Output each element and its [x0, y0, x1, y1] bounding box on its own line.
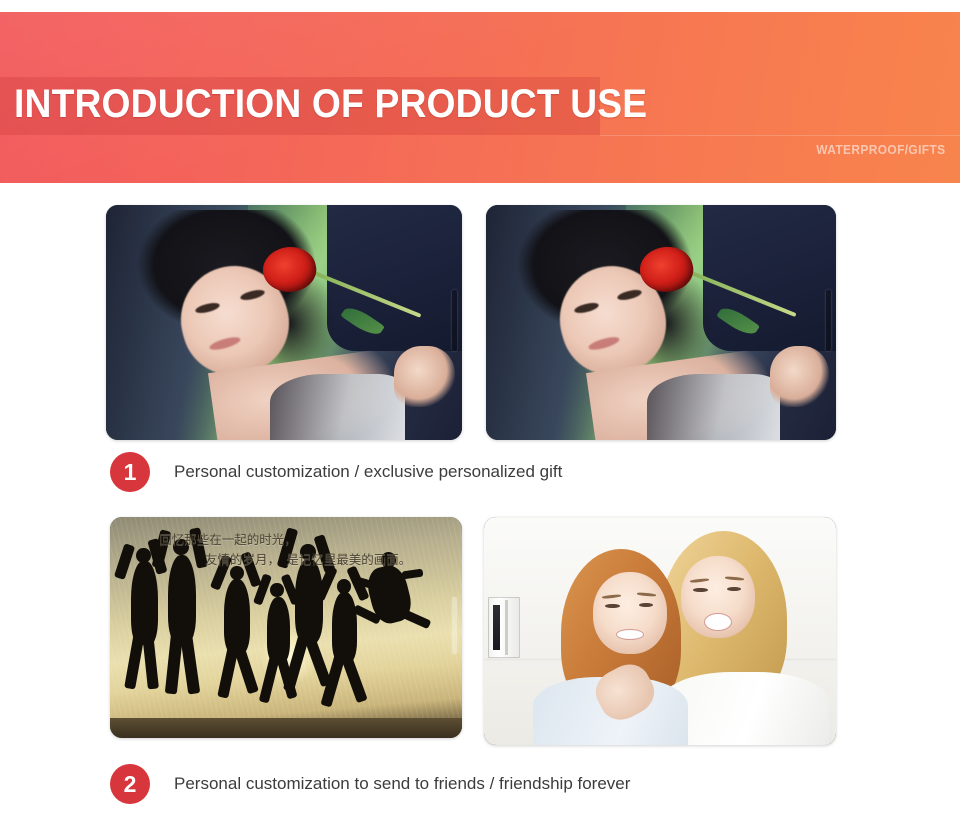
artwork-girl-with-rose [486, 205, 836, 440]
page-header-banner: INTRODUCTION OF PRODUCT USE WATERPROOF/G… [0, 12, 960, 183]
step-number-badge: 1 [110, 452, 150, 492]
usb-notch-icon [826, 290, 831, 351]
eye-shape [605, 604, 619, 608]
silhouette-body [295, 559, 323, 643]
gallery-row-2: 回忆那些在一起的时光， 友情的岁月， 是记忆里最美的画面。 [0, 517, 960, 745]
product-image-card-3: 回忆那些在一起的时光， 友情的岁月， 是记忆里最美的画面。 [110, 517, 462, 738]
artwork-jumping-silhouettes: 回忆那些在一起的时光， 友情的岁月， 是记忆里最美的画面。 [110, 517, 462, 738]
clothing-shape [270, 374, 405, 440]
printed-caption-line-2: 友情的岁月， 是记忆里最美的画面。 [110, 550, 462, 569]
product-image-card-2 [486, 205, 836, 440]
hand-shape [394, 346, 455, 407]
caption-item-2: 2 Personal customization to send to frie… [110, 764, 630, 804]
page-title: INTRODUCTION OF PRODUCT USE [14, 82, 647, 127]
subtitle-divider [600, 135, 960, 136]
gallery-row-1 [0, 205, 960, 440]
product-introduction-page: INTRODUCTION OF PRODUCT USE WATERPROOF/G… [0, 0, 960, 836]
header-subtitle: WATERPROOF/GIFTS [816, 142, 945, 157]
face-shape [593, 572, 667, 654]
printed-caption-cn: 回忆那些在一起的时光， 友情的岁月， 是记忆里最美的画面。 [110, 530, 462, 569]
product-image-card-1 [106, 205, 462, 440]
clothing-shape [647, 374, 780, 440]
car-headrest-shape [327, 205, 462, 351]
caption-text: Personal customization to send to friend… [174, 774, 630, 794]
mouth-shape [704, 613, 732, 631]
product-image-card-4 [484, 517, 836, 745]
artwork-girl-with-rose [106, 205, 462, 440]
eye-shape [639, 603, 653, 607]
eye-shape [693, 588, 707, 592]
eye-shape [727, 587, 741, 591]
usb-notch-icon [452, 597, 457, 654]
caption-text: Personal customization / exclusive perso… [174, 462, 562, 482]
car-headrest-shape [703, 205, 836, 351]
hand-shape [770, 346, 830, 407]
caption-item-1: 1 Personal customization / exclusive per… [110, 452, 562, 492]
mouth-shape [616, 629, 644, 640]
usb-notch-icon [452, 290, 457, 351]
usb-connector-icon [488, 597, 520, 659]
silhouette-head [270, 583, 283, 597]
step-number-badge: 2 [110, 764, 150, 804]
artwork-two-women [484, 517, 836, 745]
printed-caption-line-1: 回忆那些在一起的时光， [110, 530, 462, 549]
ground-shape [110, 718, 462, 738]
